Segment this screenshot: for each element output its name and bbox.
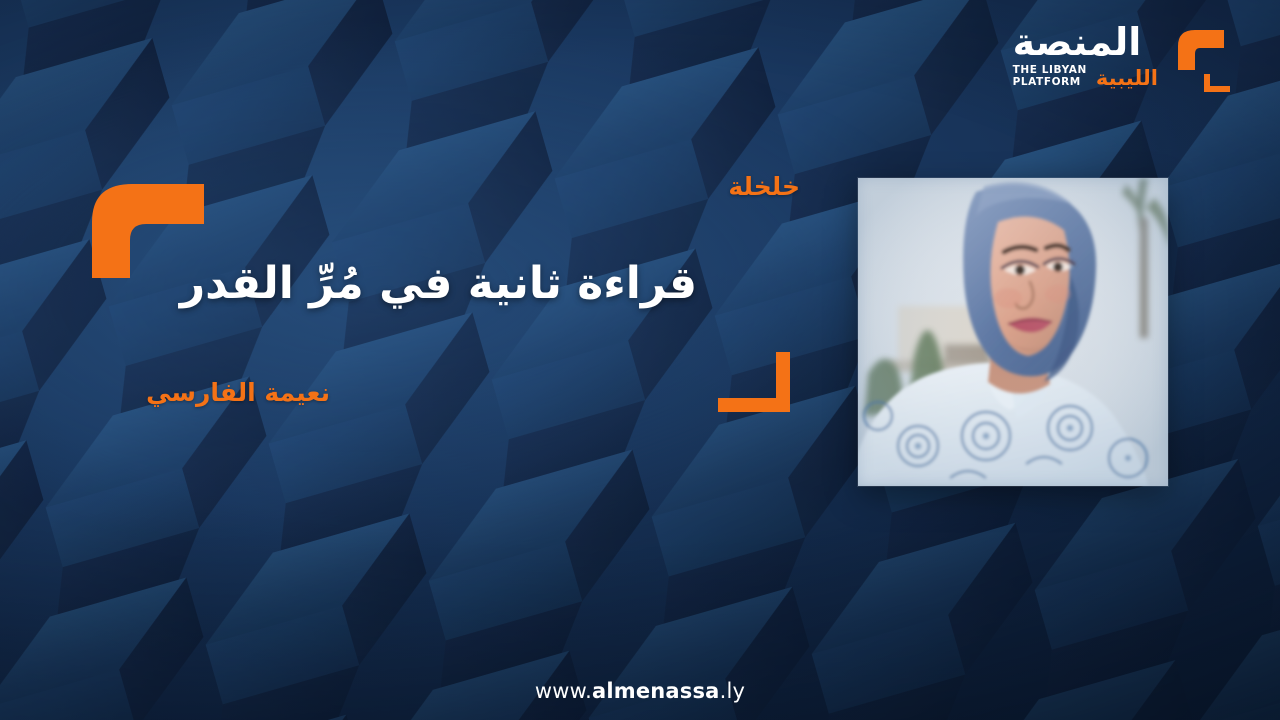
author-photo [858,178,1168,486]
url-prefix: www. [535,679,592,703]
almenassa-hook-mark-icon [1168,20,1232,92]
page-title: قراءة ثانية في مُرِّ القدر [180,258,697,309]
logo-wordmark: المنصة الليبية THE LIBYANPLATFORM [1013,23,1158,90]
url-domain: almenassa [592,679,720,703]
logo-arabic-name: المنصة [1013,23,1142,61]
logo-english-line2: PLATFORM [1013,76,1081,88]
website-url[interactable]: www.almenassa.ly [0,679,1280,703]
url-tld: .ly [720,679,746,703]
brand-logo[interactable]: المنصة الليبية THE LIBYANPLATFORM [1013,20,1232,92]
logo-english-line1: THE LIBYAN [1013,64,1087,76]
logo-english-tagline: THE LIBYANPLATFORM [1013,64,1087,90]
kicker-label: خلخلة [728,172,800,201]
author-byline: نعيمة الفارسي [146,378,330,407]
promo-card: المنصة الليبية THE LIBYANPLATFORM خلخلة … [0,0,1280,720]
orange-corner-tick-icon [718,352,800,412]
logo-arabic-sub: الليبية [1096,68,1158,89]
